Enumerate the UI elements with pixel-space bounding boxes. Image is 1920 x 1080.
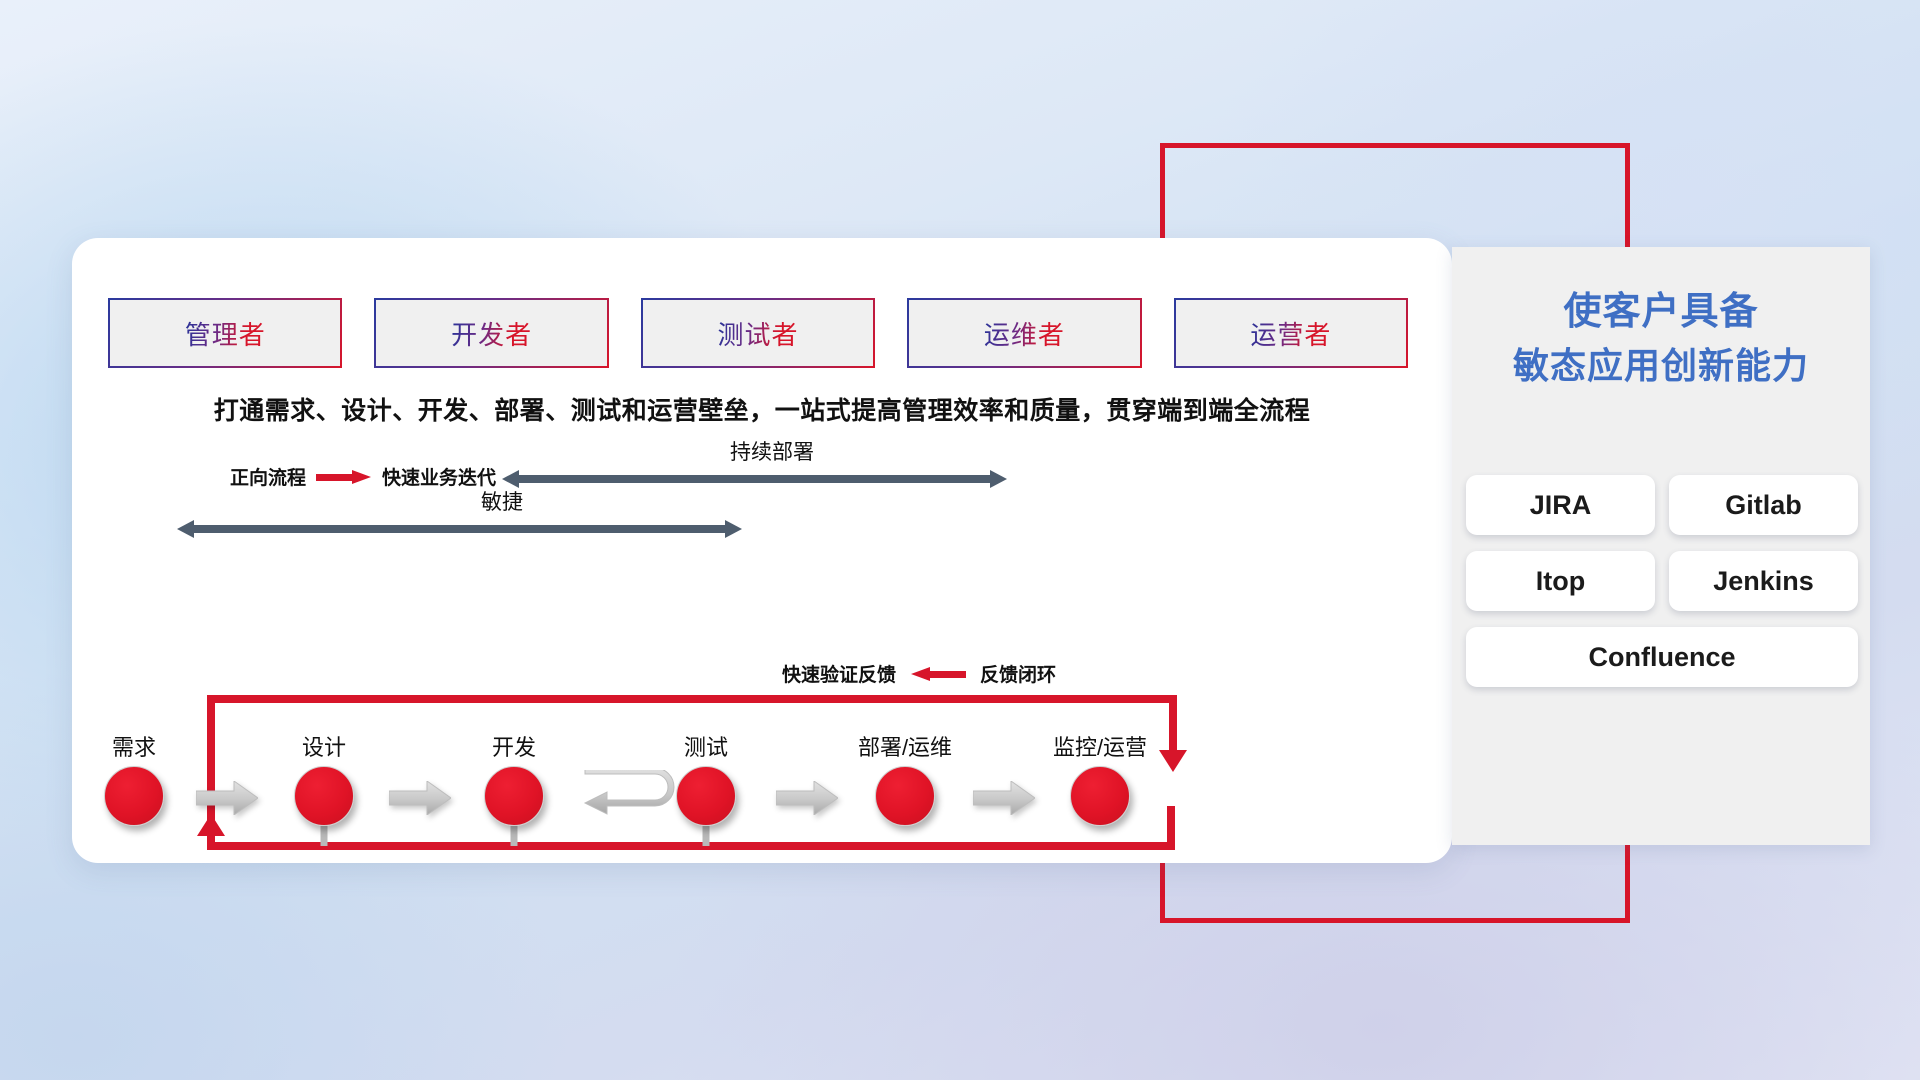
stage-label-deploy-ops: 部署/运维 [858, 730, 952, 762]
flow-chevron-icon [973, 781, 1035, 815]
slide-canvas: 管理者 开发者 测试者 运维者 运营者 打通需求、设计、开发、部署、测试和运营壁… [0, 0, 1920, 1080]
tool-chip-itop[interactable]: Itop [1466, 551, 1655, 611]
devops-flow-row: 需求 设计 开发 [72, 238, 1452, 863]
tool-chip-jira[interactable]: JIRA [1466, 475, 1655, 535]
panel-title: 使客户具备 敏态应用创新能力 [1452, 285, 1870, 392]
iteration-uturn-icon [577, 770, 687, 824]
stage-label-develop: 开发 [492, 730, 536, 762]
tool-chip-gitlab[interactable]: Gitlab [1669, 475, 1858, 535]
stage-label-design: 设计 [302, 730, 346, 762]
stage-label-test: 测试 [684, 730, 728, 762]
tool-chip-grid: JIRA Gitlab Itop Jenkins Confluence [1466, 475, 1858, 687]
flow-chevron-icon [196, 781, 258, 815]
panel-title-line-2: 敏态应用创新能力 [1452, 340, 1870, 392]
stage-dot-monitor-operate[interactable] [1070, 766, 1130, 826]
flow-chevron-icon [776, 781, 838, 815]
flow-chevron-icon [389, 781, 451, 815]
stage-dot-deploy-ops[interactable] [875, 766, 935, 826]
tool-chip-jenkins[interactable]: Jenkins [1669, 551, 1858, 611]
stage-dot-design[interactable] [294, 766, 354, 826]
stage-label-monitor-operate: 监控/运营 [1053, 730, 1147, 762]
panel-title-line-1: 使客户具备 [1452, 285, 1870, 340]
stage-label-requirement: 需求 [112, 730, 156, 762]
main-diagram-card: 管理者 开发者 测试者 运维者 运营者 打通需求、设计、开发、部署、测试和运营壁… [72, 238, 1452, 863]
stage-dot-requirement[interactable] [104, 766, 164, 826]
stage-dot-test[interactable] [676, 766, 736, 826]
stage-dot-develop[interactable] [484, 766, 544, 826]
tool-chip-confluence[interactable]: Confluence [1466, 627, 1858, 687]
capability-panel: 使客户具备 敏态应用创新能力 JIRA Gitlab Itop Jenkins … [1452, 247, 1870, 845]
